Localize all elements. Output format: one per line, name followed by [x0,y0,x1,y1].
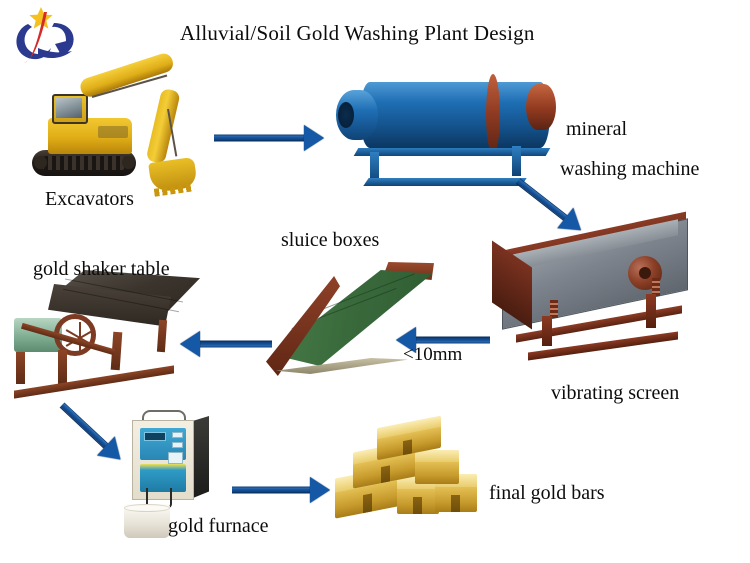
page-title: Alluvial/Soil Gold Washing Plant Design [180,21,535,46]
excavator-roller [34,156,47,169]
label-mineral: mineral [566,118,627,141]
furnace-knob[interactable] [172,442,183,448]
gold-bar-notch [381,466,390,484]
arrow-shaft [60,402,110,449]
furnace-side-panel [193,416,209,498]
furnace-crucible [124,504,170,538]
annotation-size-spec: <10mm [403,344,462,366]
trommel-leg [512,146,521,176]
gold-bar-top [415,450,459,462]
step-sluice-box-figure [262,256,442,386]
gold-bar-notch [451,495,460,512]
shaker-leg [157,320,167,352]
arrow-furnace-to-gold-bars [232,477,332,503]
gold-bar [415,450,459,484]
gold-bar-notch [363,494,372,513]
arrow-shaft [214,135,306,142]
label-gold-furnace: gold furnace [168,515,269,538]
arrow-head [310,477,330,503]
step-vibrating-screen-figure [484,228,712,378]
excavator-bucket [148,157,198,193]
label-vibrating-screen: vibrating screen [551,382,679,405]
label-excavators: Excavators [45,188,134,211]
trommel-feed-opening [338,102,354,128]
furnace-knob[interactable] [172,432,183,438]
vibrating-screen-leg [542,316,552,346]
trommel-drum [360,82,550,148]
gold-bar-notch [403,439,412,455]
label-sluice-boxes: sluice boxes [281,229,379,252]
shaker-base-rail [14,365,174,398]
label-washing-machine: washing machine [560,158,699,181]
diagram-canvas: Alluvial/Soil Gold Washing Plant Design … [0,0,750,563]
step-gold-bars-figure [335,420,485,520]
vibrating-screen-leg [646,294,656,328]
excavator-window [56,98,82,118]
arrow-shaft [414,337,490,344]
step-excavator-figure [22,72,212,197]
logo-star [29,7,52,29]
label-gold-shaker-table: gold shaker table [33,258,170,281]
shaker-leg [58,350,67,384]
trommel-drive-hub [526,84,556,130]
gold-bar-notch [413,497,422,514]
arrow-shaft [232,487,312,494]
sluice-floor-edge [276,358,408,374]
arrow-head [180,331,200,357]
trommel-tyre-ring [486,74,500,154]
step-shaker-table-figure [8,262,208,392]
shaker-leg [16,352,25,384]
furnace-button[interactable] [168,452,183,464]
trommel-skid [363,178,526,186]
excavator-roller [122,156,135,169]
gold-bar-top [377,416,441,439]
furnace-display [144,432,166,441]
arrow-shaft [198,341,272,348]
arrow-excavator-to-washing-machine [214,125,326,151]
company-logo [8,6,80,68]
label-final-gold-bars: final gold bars [489,482,605,505]
step-washing-machine-figure [336,64,582,189]
arrow-sluice-to-shaker-table [176,331,272,357]
arrow-head [304,125,324,151]
